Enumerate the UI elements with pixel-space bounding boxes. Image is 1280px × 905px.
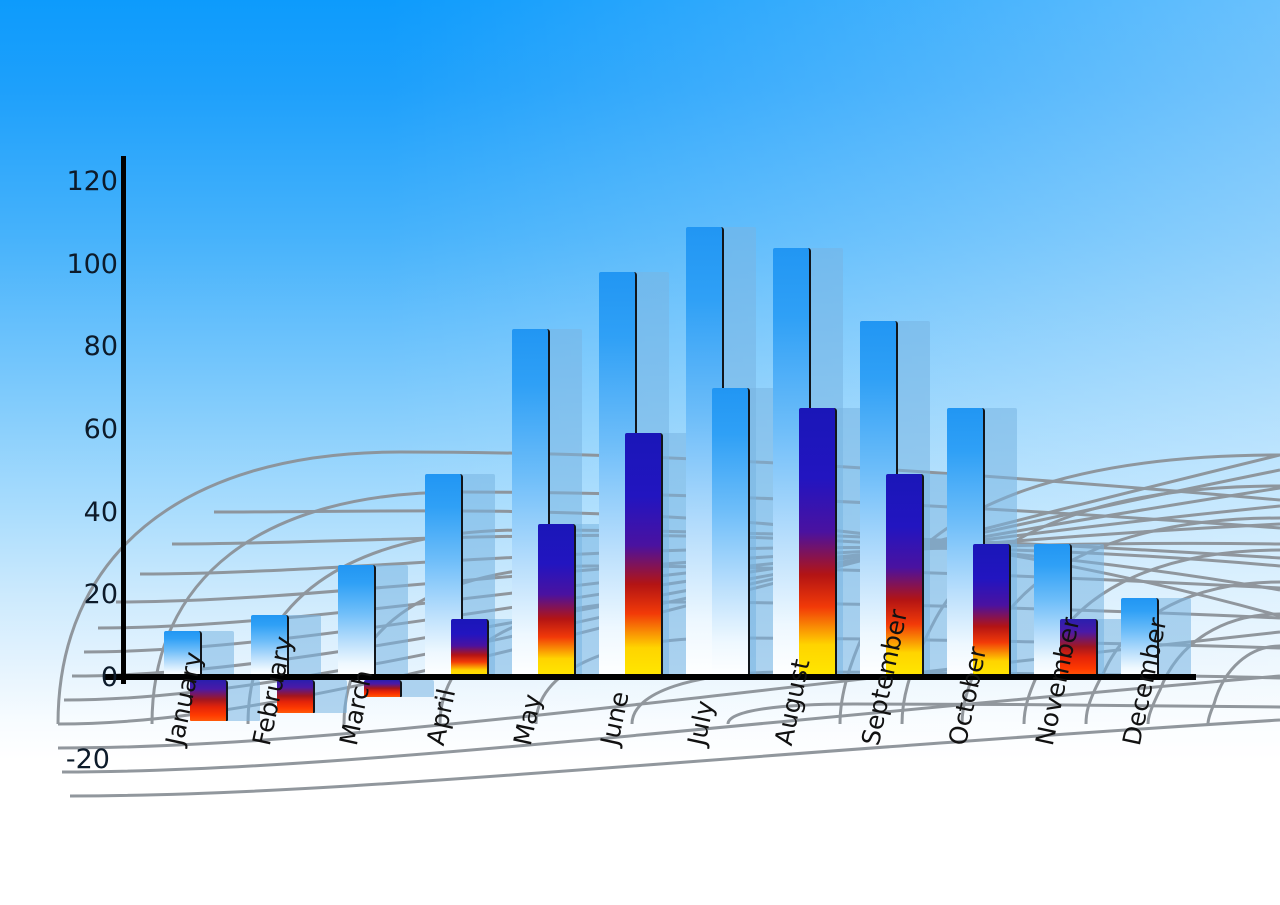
y-tick-40: 40 xyxy=(48,497,118,528)
y-axis-line xyxy=(121,156,126,684)
x-label-july: July xyxy=(682,698,720,748)
y-tick-120: 120 xyxy=(48,166,118,197)
bar-series2-august[interactable] xyxy=(799,408,837,677)
bar-series2-may[interactable] xyxy=(538,524,576,677)
bar-series1-march[interactable] xyxy=(338,565,376,677)
chart-container: 120 100 80 60 40 20 0 -20 January Februa… xyxy=(0,0,1280,905)
y-tick-80: 80 xyxy=(48,331,118,362)
x-label-june: June xyxy=(595,689,635,748)
y-tick-60: 60 xyxy=(48,414,118,445)
y-tick-100: 100 xyxy=(48,249,118,280)
bar-series2-july[interactable] xyxy=(712,388,750,677)
x-label-may: May xyxy=(508,691,547,748)
plot-area: 120 100 80 60 40 20 0 -20 January Februa… xyxy=(0,0,1280,905)
bar-series2-june[interactable] xyxy=(625,433,663,677)
bar-series2-april[interactable] xyxy=(451,619,489,677)
y-tick-0: 0 xyxy=(48,662,118,693)
y-tick-20: 20 xyxy=(48,579,118,610)
y-tick-neg20: -20 xyxy=(40,744,110,775)
